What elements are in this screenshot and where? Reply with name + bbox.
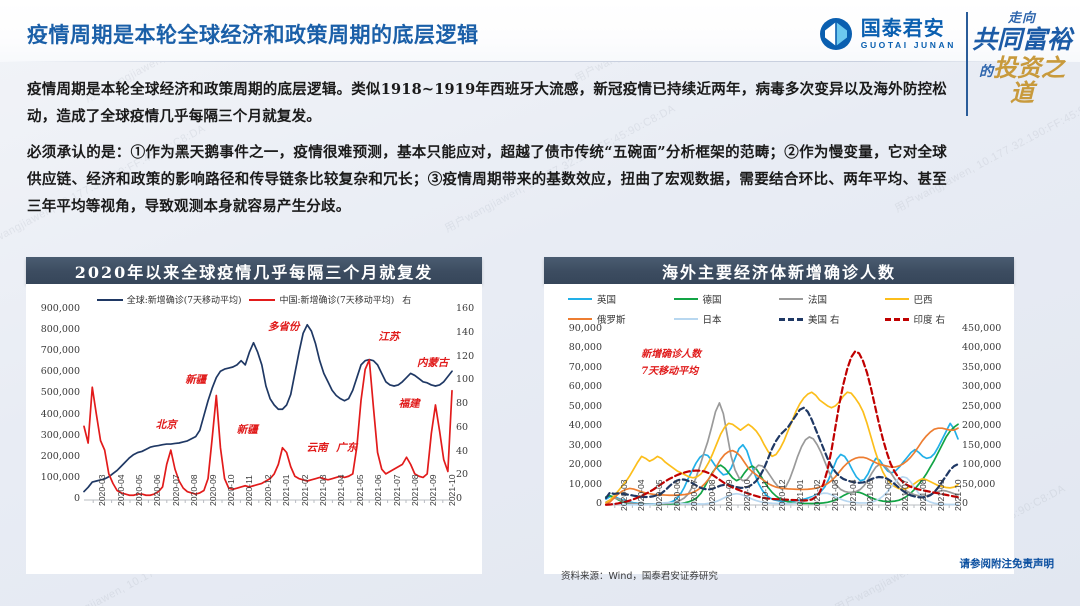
x-tick-label: 2021-03	[318, 474, 328, 506]
y-tick-right: 200,000	[962, 420, 1001, 431]
chart-right-title: 海外主要经济体新增确诊人数	[544, 257, 1014, 284]
y-tick-left: 90,000	[569, 323, 602, 334]
legend-swatch-1	[674, 298, 698, 300]
y-tick-left: 700,000	[41, 345, 80, 356]
y-tick-left: 500,000	[41, 387, 80, 398]
x-tick-label: 2020-04	[636, 479, 646, 511]
chart-annotation: 内蒙古	[417, 355, 449, 370]
paragraph-1: 疫情周期是本轮全球经济和政策周期的底层逻辑。类似1918~1919年西班牙大流感…	[27, 76, 947, 130]
gtja-mark-icon	[819, 17, 853, 51]
x-tick-label: 2021-06	[373, 474, 383, 506]
y-tick-right: 20	[456, 469, 468, 480]
legend-label-global: 全球:新增确诊(7天移动平均)	[127, 293, 242, 306]
x-tick-label: 2020-04	[116, 474, 126, 506]
x-tick-label: 2021-04	[336, 474, 346, 506]
legend-swatch-global	[97, 299, 123, 301]
y-tick-right: 100	[456, 374, 474, 385]
x-tick-label: 2020-11	[244, 475, 254, 506]
legend-label-3: 巴西	[914, 292, 933, 306]
y-tick-right: 150,000	[962, 440, 1001, 451]
slogan-line-3: 的投资之道	[972, 55, 1072, 105]
chart-left-body: 全球:新增确诊(7天移动平均) 中国:新增确诊(7天移动平均) 右 0100,0…	[26, 284, 482, 574]
x-tick-label: 2020-05	[654, 479, 664, 511]
legend-label-1: 德国	[703, 292, 722, 306]
x-tick-label: 2021-01	[795, 479, 805, 511]
x-tick-label: 2020-10	[226, 474, 236, 506]
x-tick-label: 2021-02	[812, 479, 822, 511]
y-tick-right: 120	[456, 351, 474, 362]
y-tick-left: 200,000	[41, 451, 80, 462]
legend-label-5: 日本	[703, 312, 722, 326]
x-tick-label: 2020-10	[742, 479, 752, 511]
brand-divider	[966, 12, 968, 116]
source-note: 资料来源：Wind，国泰君安证券研究	[561, 568, 718, 582]
x-tick-label: 2020-05	[134, 474, 144, 506]
x-tick-label: 2020-03	[97, 474, 107, 506]
y-tick-left: 70,000	[569, 362, 602, 373]
chart-left-title: 2020年以来全球疫情几乎每隔三个月就复发	[26, 257, 482, 284]
chart-right-legend: 英国德国法国巴西俄罗斯日本美国 右印度 右	[544, 284, 1014, 326]
legend-item-7: 印度 右	[885, 312, 946, 326]
chart-left-plot: 0100,000200,000300,000400,000500,000600,…	[26, 306, 482, 566]
x-tick-label: 2020-09	[724, 479, 734, 511]
x-tick-label: 2020-03	[619, 479, 629, 511]
legend-swatch-7	[885, 318, 909, 321]
y-tick-left: 300,000	[41, 430, 80, 441]
legend-swatch-3	[885, 298, 909, 300]
legend-right-axis-note: 右	[402, 293, 411, 306]
y-tick-left: 400,000	[41, 409, 80, 420]
y-tick-left: 80,000	[569, 342, 602, 353]
campaign-slogan: 走向 共同富裕 的投资之道	[972, 12, 1072, 105]
x-tick-label: 2021-02	[300, 474, 310, 506]
chart-annotation: 新疆	[185, 372, 206, 387]
y-tick-right: 450,000	[962, 323, 1001, 334]
x-tick-label: 2020-11	[760, 480, 770, 511]
legend-swatch-5	[674, 318, 698, 320]
y-tick-left: 40,000	[569, 420, 602, 431]
chart-annotation: 多省份	[268, 319, 300, 334]
slogan-line-3-prefix: 的	[979, 64, 993, 80]
y-tick-left: 30,000	[569, 440, 602, 451]
chart-annotation: 福建	[399, 396, 420, 411]
legend-item-2: 法国	[779, 292, 827, 306]
y-tick-right: 50,000	[962, 479, 995, 490]
y-tick-left: 800,000	[41, 324, 80, 335]
y-tick-right: 350,000	[962, 362, 1001, 373]
chart-annotation: 新增确诊人数	[641, 348, 701, 362]
x-tick-label: 2021-03	[830, 479, 840, 511]
chart-panel-left: 2020年以来全球疫情几乎每隔三个月就复发 全球:新增确诊(7天移动平均) 中国…	[26, 257, 482, 574]
x-tick-label: 2020-07	[689, 479, 699, 511]
x-tick-label: 2020-08	[189, 474, 199, 506]
y-tick-left: 0	[74, 493, 80, 504]
y-tick-right: 40	[456, 446, 468, 457]
legend-label-0: 英国	[597, 292, 616, 306]
chart-right-plot: 010,00020,00030,00040,00050,00060,00070,…	[544, 326, 1014, 571]
legend-item-1: 德国	[674, 292, 722, 306]
y-tick-left: 20,000	[569, 459, 602, 470]
legend-item-3: 巴西	[885, 292, 933, 306]
x-tick-label: 2020-08	[707, 479, 717, 511]
x-tick-label: 2020-12	[777, 479, 787, 511]
y-tick-left: 900,000	[41, 303, 80, 314]
paragraph-2: 必须承认的是：①作为黑天鹅事件之一，疫情很难预测，基本只能应对，超越了债市传统“…	[27, 139, 947, 220]
chart-annotation: 北京	[156, 417, 177, 432]
x-tick-label: 2021-08	[410, 474, 420, 506]
x-tick-label: 2021-01	[281, 474, 291, 506]
x-tick-label: 2021-09	[428, 474, 438, 506]
y-tick-left: 0	[596, 498, 602, 509]
header-divider	[0, 61, 1080, 62]
x-tick-label: 2021-09	[936, 479, 946, 511]
x-tick-label: 2021-05	[865, 479, 875, 511]
legend-label-2: 法国	[808, 292, 827, 306]
slogan-line-1: 走向	[972, 12, 1072, 26]
chart-svg	[544, 326, 1014, 571]
legend-swatch-0	[568, 298, 592, 300]
x-tick-label: 2021-10	[953, 479, 963, 511]
gtja-logo: 国泰君安 GUOTAI JUNAN	[819, 17, 956, 51]
brand-name-cn: 国泰君安	[861, 18, 956, 38]
y-tick-right: 300,000	[962, 381, 1001, 392]
y-tick-left: 50,000	[569, 401, 602, 412]
legend-item-5: 日本	[674, 312, 722, 326]
slogan-line-2: 共同富裕	[972, 27, 1072, 53]
series-line-0	[84, 325, 452, 492]
y-tick-left: 100,000	[41, 472, 80, 483]
y-tick-left: 60,000	[569, 381, 602, 392]
y-tick-right: 80	[456, 398, 468, 409]
y-tick-right: 250,000	[962, 401, 1001, 412]
slogan-line-3-main: 投资之道	[993, 53, 1065, 107]
legend-item-global: 全球:新增确诊(7天移动平均)	[97, 293, 242, 306]
legend-label-china: 中国:新增确诊(7天移动平均)	[279, 293, 394, 306]
x-tick-label: 2020-12	[263, 474, 273, 506]
page-title: 疫情周期是本轮全球经济和政策周期的底层逻辑	[27, 19, 479, 49]
chart-annotation: 江苏	[378, 329, 399, 344]
chart-annotation: 7天移动平均	[641, 365, 698, 379]
disclaimer-note: 请参阅附注免责声明	[960, 556, 1055, 571]
legend-swatch-4	[568, 318, 592, 320]
x-tick-label: 2020-07	[171, 474, 181, 506]
legend-label-7: 印度 右	[914, 312, 946, 326]
y-tick-right: 100,000	[962, 459, 1001, 470]
legend-swatch-china	[249, 299, 275, 301]
legend-item-china: 中国:新增确诊(7天移动平均)	[249, 293, 394, 306]
y-tick-right: 60	[456, 422, 468, 433]
x-tick-label: 2021-05	[355, 474, 365, 506]
x-tick-label: 2021-04	[848, 479, 858, 511]
legend-item-6: 美国 右	[779, 312, 840, 326]
x-tick-label: 2021-06	[883, 479, 893, 511]
y-tick-left: 10,000	[569, 479, 602, 490]
chart-annotation: 新疆	[237, 422, 258, 437]
x-tick-label: 2020-06	[672, 479, 682, 511]
x-tick-label: 2021-07	[900, 479, 910, 511]
x-tick-label: 2021-07	[392, 474, 402, 506]
x-tick-label: 2021-10	[447, 474, 457, 506]
legend-swatch-2	[779, 298, 803, 300]
x-tick-label: 2020-09	[208, 474, 218, 506]
chart-right-body: 英国德国法国巴西俄罗斯日本美国 右印度 右 010,00020,00030,00…	[544, 284, 1014, 574]
x-tick-label: 2020-06	[152, 474, 162, 506]
legend-label-6: 美国 右	[808, 312, 840, 326]
y-tick-right: 160	[456, 303, 474, 314]
chart-left-legend: 全球:新增确诊(7天移动平均) 中国:新增确诊(7天移动平均) 右	[26, 284, 482, 306]
y-tick-right: 140	[456, 327, 474, 338]
x-tick-label: 2021-08	[918, 479, 928, 511]
chart-panel-right: 海外主要经济体新增确诊人数 英国德国法国巴西俄罗斯日本美国 右印度 右 010,…	[544, 257, 1014, 574]
chart-annotation: 广东	[336, 440, 357, 455]
y-tick-left: 600,000	[41, 366, 80, 377]
chart-annotation: 云南	[307, 440, 328, 455]
brand-name-en: GUOTAI JUNAN	[861, 41, 956, 50]
y-tick-right: 400,000	[962, 342, 1001, 353]
legend-item-0: 英国	[568, 292, 616, 306]
legend-swatch-6	[779, 318, 803, 321]
